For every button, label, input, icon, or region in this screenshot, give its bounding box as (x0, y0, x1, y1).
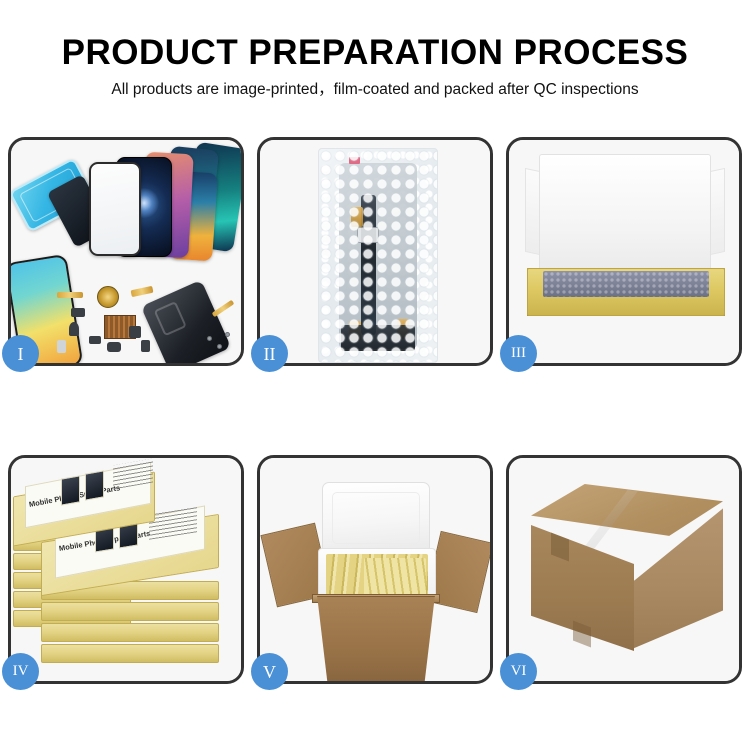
bubble-wrap-bag-icon (318, 148, 438, 363)
flex-cable-icon (131, 286, 154, 297)
stacked-box (41, 623, 219, 642)
process-step-panel-6: VI (506, 455, 742, 684)
step-6-image (509, 458, 739, 681)
step-badge-5: V (251, 653, 288, 690)
page-subtitle: All products are image-printed，film-coat… (0, 77, 750, 103)
page-header: PRODUCT PREPARATION PROCESS All products… (0, 0, 750, 103)
process-step-panel-4: Mobile Phone Spare Parts Mobile Phone Sp… (8, 455, 244, 684)
small-chip-icon (129, 326, 141, 338)
small-chip-icon (69, 322, 79, 336)
flex-cable-icon (57, 292, 83, 298)
step-2-image (260, 140, 490, 363)
box-label-screen-image (85, 470, 104, 500)
step-4-image: Mobile Phone Spare Parts Mobile Phone Sp… (11, 458, 241, 681)
small-chip-icon (107, 342, 121, 352)
foam-box-lid-icon (322, 482, 430, 554)
step-5-image (260, 458, 490, 681)
white-box-lid-icon (539, 154, 711, 278)
tempered-glass-icon (89, 162, 141, 256)
stacked-box (41, 644, 219, 663)
packed-yellow-boxes-icon (364, 558, 426, 596)
grey-foam-padding-icon (543, 271, 709, 297)
step-badge-3: III (500, 335, 537, 372)
stacked-box (41, 602, 219, 621)
step-badge-6: VI (500, 653, 537, 690)
step-1-image (11, 140, 241, 363)
sealed-carton-icon (531, 484, 723, 660)
small-chip-icon (57, 340, 66, 353)
step-badge-1: I (2, 335, 39, 372)
process-step-panel-5: V (257, 455, 493, 684)
screw-icon (217, 344, 222, 349)
phone-back-housing-icon (141, 280, 231, 363)
screw-icon (225, 332, 230, 337)
small-chip-icon (89, 336, 101, 344)
copper-coil-icon (97, 286, 119, 308)
step-3-image (509, 140, 739, 363)
step-badge-2: II (251, 335, 288, 372)
box-label-screen-image (61, 475, 80, 505)
process-step-panel-2: II (257, 137, 493, 366)
phone-parts-scene (11, 140, 241, 363)
bubble-texture-overlay (319, 149, 437, 362)
box-stack-icon: Mobile Phone Spare Parts Mobile Phone Sp… (11, 458, 241, 681)
process-step-panel-1: I (8, 137, 244, 366)
carton-body-icon (312, 596, 440, 681)
process-step-grid: I II III (8, 137, 742, 684)
process-step-panel-3: III (506, 137, 742, 366)
screw-icon (207, 336, 212, 341)
page-title: PRODUCT PREPARATION PROCESS (0, 32, 750, 74)
small-chip-icon (71, 308, 85, 317)
step-badge-4: IV (2, 653, 39, 690)
flex-cable-icon (212, 300, 235, 318)
small-chip-icon (141, 340, 150, 352)
